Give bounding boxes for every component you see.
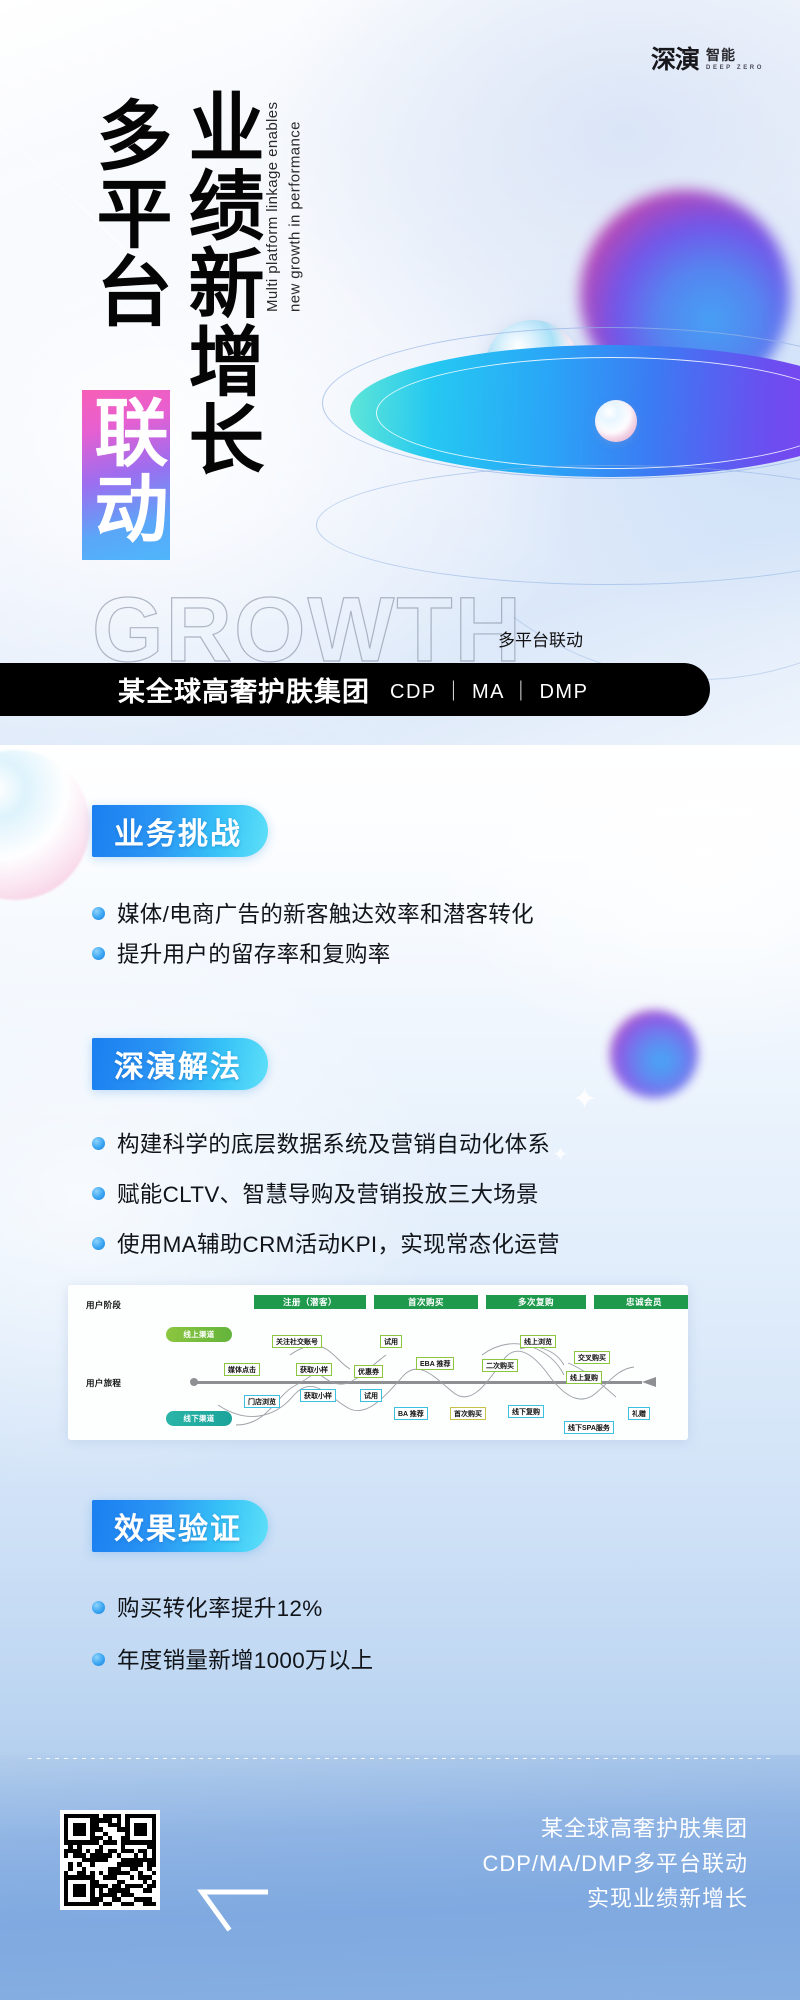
diagram-node: EBA 推荐 <box>416 1357 454 1370</box>
footer-text-block: 某全球高奢护肤集团 CDP/MA/DMP多平台联动 实现业绩新增长 <box>482 1812 748 1916</box>
hero-title-block: 多平台 业绩新增长 联动 Multi platform linkage enab… <box>0 0 420 620</box>
bullet-dot-icon <box>92 1601 105 1614</box>
diagram-row-label-journey: 用户旅程 <box>86 1377 121 1389</box>
bullet-dot-icon <box>92 907 105 920</box>
diagram-row-label-stage: 用户阶段 <box>86 1299 121 1311</box>
section-heading-results: 效果验证 <box>92 1500 268 1552</box>
poster-root: 深演 智能 DEEP ZERO 多平台 业绩新增长 联动 Multi platf… <box>0 0 800 2000</box>
section-heading-text: 深演解法 <box>114 1042 242 1086</box>
bullet-dot-icon <box>92 1187 105 1200</box>
list-item: 媒体/电商广告的新客触达效率和潜客转化 <box>92 898 534 932</box>
diagram-node: 试用 <box>380 1335 402 1348</box>
decor-sphere-small <box>595 400 637 442</box>
title-column-two: 业绩新增长 <box>180 88 258 478</box>
section-heading-text: 效果验证 <box>114 1504 242 1548</box>
section-heading-solution: 深演解法 <box>92 1038 268 1090</box>
diagram-node: 线上浏览 <box>520 1335 556 1348</box>
bullet-text: 赋能CLTV、智慧导购及营销投放三大场景 <box>117 1178 539 1212</box>
bullet-text: 提升用户的留存率和复购率 <box>117 938 391 972</box>
logo-cn-text: 深演 <box>651 40 699 76</box>
decor-arrow-icon <box>188 1888 268 1934</box>
banner-client-name: 某全球高奢护肤集团 <box>118 670 370 709</box>
section-heading-text: 业务挑战 <box>114 809 242 853</box>
diagram-node: 关注社交账号 <box>272 1335 322 1348</box>
footer-divider <box>28 1758 772 1759</box>
title-column-one: 多平台 <box>88 96 166 330</box>
diagram-channel-offline: 线下渠道 <box>166 1411 232 1426</box>
diagram-node: 获取小样 <box>296 1363 332 1376</box>
bullet-text: 使用MA辅助CRM活动KPI，实现常态化运营 <box>117 1228 560 1262</box>
list-item: 构建科学的底层数据系统及营销自动化体系 <box>92 1128 560 1162</box>
title-highlight-text: 联动 <box>86 394 163 546</box>
bullet-dot-icon <box>92 947 105 960</box>
diagram-node: 交叉购买 <box>574 1351 610 1364</box>
decor-sphere-right <box>610 1010 698 1098</box>
diagram-stage: 忠诚会员 <box>594 1295 688 1309</box>
hero-section: 深演 智能 DEEP ZERO 多平台 业绩新增长 联动 Multi platf… <box>0 0 800 745</box>
bullet-text: 构建科学的底层数据系统及营销自动化体系 <box>117 1128 550 1162</box>
banner-note: 多平台联动 <box>498 626 583 651</box>
diagram-node: 礼赠 <box>628 1407 650 1420</box>
bullet-text: 购买转化率提升12% <box>117 1592 323 1626</box>
hero-english-tagline: Multi platform linkage enables new growt… <box>262 92 307 312</box>
logo-sub-cn: 智能 <box>706 48 764 62</box>
logo-sub-en: DEEP ZERO <box>706 65 764 71</box>
bullet-list-solution: 构建科学的底层数据系统及营销自动化体系 赋能CLTV、智慧导购及营销投放三大场景… <box>92 1128 560 1267</box>
diagram-node-primary: 首次购买 <box>450 1407 486 1420</box>
bullet-list-challenges: 媒体/电商广告的新客触达效率和潜客转化 提升用户的留存率和复购率 <box>92 898 534 978</box>
diagram-stage: 注册（潜客） <box>254 1295 366 1309</box>
banner-products: CDP ｜ MA ｜ DMP <box>390 675 588 704</box>
section-heading-challenges: 业务挑战 <box>92 805 268 857</box>
diagram-node: 线下SPA服务 <box>564 1421 614 1434</box>
bullet-dot-icon <box>92 1237 105 1250</box>
bullet-text: 年度销量新增1000万以上 <box>117 1644 373 1678</box>
bullet-dot-icon <box>92 1653 105 1666</box>
diagram-node: 二次购买 <box>482 1359 518 1372</box>
customer-journey-diagram: 用户阶段 用户旅程 注册（潜客） 首次购买 多次复购 忠诚会员 线上渠道 线下渠… <box>68 1285 688 1440</box>
diagram-node: 线下复购 <box>508 1405 544 1418</box>
list-item: 提升用户的留存率和复购率 <box>92 938 534 972</box>
bullet-list-results: 购买转化率提升12% 年度销量新增1000万以上 <box>92 1592 373 1684</box>
brand-logo: 深演 智能 DEEP ZERO <box>651 40 764 76</box>
diagram-node: 试用 <box>360 1389 382 1402</box>
decor-sphere-left <box>0 750 90 900</box>
bullet-text: 媒体/电商广告的新客触达效率和潜客转化 <box>117 898 534 932</box>
diagram-node: 媒体点击 <box>224 1363 260 1376</box>
list-item: 购买转化率提升12% <box>92 1592 373 1626</box>
footer-line: 实现业绩新增长 <box>482 1882 748 1917</box>
list-item: 使用MA辅助CRM活动KPI，实现常态化运营 <box>92 1228 560 1262</box>
client-banner: 某全球高奢护肤集团 CDP ｜ MA ｜ DMP <box>0 663 710 716</box>
qr-code-pattern <box>64 1814 156 1906</box>
bullet-dot-icon <box>92 1137 105 1150</box>
footer-line: CDP/MA/DMP多平台联动 <box>482 1847 748 1882</box>
sparkle-icon: ✦ <box>572 1085 597 1115</box>
diagram-stage: 多次复购 <box>486 1295 586 1309</box>
logo-subtext-group: 智能 DEEP ZERO <box>706 46 764 71</box>
diagram-channel-online: 线上渠道 <box>166 1327 232 1342</box>
list-item: 年度销量新增1000万以上 <box>92 1644 373 1678</box>
qr-code[interactable] <box>60 1810 160 1910</box>
diagram-node: 门店浏览 <box>244 1395 280 1408</box>
list-item: 赋能CLTV、智慧导购及营销投放三大场景 <box>92 1178 560 1212</box>
diagram-node: 优惠券 <box>354 1365 383 1378</box>
diagram-node: 线上复购 <box>566 1371 602 1384</box>
diagram-node: 获取小样 <box>300 1389 336 1402</box>
diagram-stage: 首次购买 <box>374 1295 478 1309</box>
footer-line: 某全球高奢护肤集团 <box>482 1812 748 1847</box>
diagram-node: BA 推荐 <box>394 1407 428 1420</box>
